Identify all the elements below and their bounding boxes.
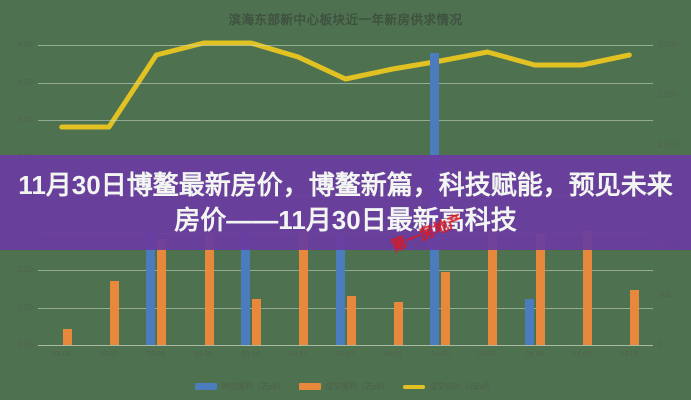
bar-demand	[63, 329, 72, 346]
legend-swatch-demand	[299, 383, 321, 390]
gridline	[38, 270, 653, 271]
bar-demand	[394, 302, 403, 346]
legend-item-supply: 供应面积（万㎡）	[195, 381, 285, 392]
y-axis-tick-right: 2,500	[658, 90, 678, 99]
legend-swatch-price	[403, 385, 425, 389]
bar-demand	[630, 290, 639, 346]
gridline	[38, 308, 653, 309]
bar-demand	[157, 239, 166, 346]
x-axis-tick: 24.01	[383, 349, 402, 358]
x-axis-tick: 23.12	[336, 349, 355, 358]
legend-label-supply: 供应面积（万㎡）	[221, 381, 285, 392]
y-axis-tick-left: 3.00	[17, 115, 33, 124]
gridline	[38, 345, 653, 346]
y-axis-tick-left: 0.00	[17, 340, 33, 349]
chart-legend: 供应面积（万㎡） 成交面积（万㎡） 成交均价（元/㎡）	[0, 381, 691, 392]
legend-label-price: 成交均价（元/㎡）	[429, 381, 495, 392]
x-axis-tick: 23.08	[147, 349, 166, 358]
legend-label-demand: 成交面积（万㎡）	[325, 381, 389, 392]
bar-demand	[252, 299, 261, 346]
price-line-path	[62, 43, 630, 127]
gridline	[38, 45, 653, 46]
legend-item-demand: 成交面积（万㎡）	[299, 381, 389, 392]
y-axis-tick-left: 3.50	[17, 78, 33, 87]
bar-supply	[525, 299, 534, 346]
chart-title: 滨海东部新中心板块近一年新房供求情况	[0, 9, 691, 28]
gridline	[38, 120, 653, 121]
x-axis-tick: 23.11	[289, 349, 307, 358]
x-axis-tick: 23.10	[241, 349, 260, 358]
x-axis-tick: 24.04	[525, 349, 544, 358]
x-axis-tick: 23.09	[194, 349, 213, 358]
screenshot-root: 滨海东部新中心板块近一年新房供求情况 4.003.503.002.502.001…	[0, 0, 691, 400]
y-axis-tick-left: 0.50	[17, 303, 33, 312]
bar-supply	[336, 236, 345, 345]
x-axis-tick: 24.06	[620, 349, 639, 358]
x-axis-tick: 24.03	[478, 349, 497, 358]
legend-item-price: 成交均价（元/㎡）	[403, 381, 495, 392]
bar-demand	[110, 281, 119, 345]
x-axis-tick: 24.05	[573, 349, 592, 358]
y-axis-tick-right: 500	[658, 290, 671, 299]
y-axis-tick-right: 0	[658, 340, 662, 349]
y-axis-tick-left: 4.00	[17, 40, 33, 49]
headline-text: 11月30日博鳌最新房价，博鳌新篇，科技赋能，预见未来房价——11月30日最新高…	[6, 168, 685, 237]
x-axis-tick: 24.02	[431, 349, 450, 358]
y-axis-tick-right: 3,000	[658, 40, 678, 49]
headline-banner: 11月30日博鳌最新房价，博鳌新篇，科技赋能，预见未来房价——11月30日最新高…	[0, 155, 691, 250]
x-axis-tick: 23.07	[100, 349, 119, 358]
y-axis-tick-right: 2,000	[658, 140, 678, 149]
y-axis-tick-left: 1.00	[17, 265, 33, 274]
bar-demand	[347, 296, 356, 346]
x-axis-tick: 23.06	[52, 349, 71, 358]
legend-swatch-supply	[195, 383, 217, 390]
bar-demand	[441, 272, 450, 346]
gridline	[38, 83, 653, 84]
